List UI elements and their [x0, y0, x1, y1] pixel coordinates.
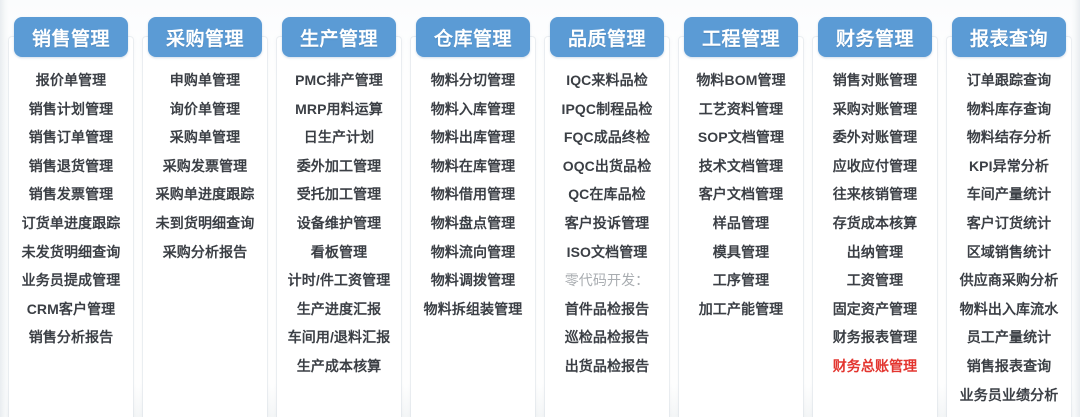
module-item[interactable]: 物料入库管理 — [431, 95, 516, 124]
module-item[interactable]: SOP文档管理 — [698, 123, 784, 152]
module-item[interactable]: IPQC制程品检 — [561, 95, 652, 124]
module-item[interactable]: 物料借用管理 — [431, 180, 516, 209]
module-item[interactable]: 销售发票管理 — [29, 180, 114, 209]
module-item[interactable]: 车间用/退料汇报 — [288, 323, 391, 352]
module-item[interactable]: 生产进度汇报 — [297, 295, 382, 324]
module-item[interactable]: 车间产量统计 — [967, 180, 1052, 209]
module-item-list: 销售对账管理采购对账管理委外对账管理应收应付管理往来核销管理存货成本核算出纳管理… — [811, 66, 939, 381]
module-item[interactable]: 工资管理 — [847, 266, 903, 295]
module-item[interactable]: 出货品检报告 — [565, 352, 650, 381]
module-item[interactable]: 业务员业绩分析 — [960, 381, 1059, 410]
module-item[interactable]: 计时/件工资管理 — [288, 266, 391, 295]
module-item[interactable]: OQC出货品检 — [563, 152, 652, 181]
module-column: 采购管理申购单管理询价单管理采购单管理采购发票管理采购单进度跟踪未到货明细查询采… — [141, 0, 269, 417]
module-item[interactable]: 销售计划管理 — [29, 95, 114, 124]
module-column-header[interactable]: 仓库管理 — [416, 17, 530, 57]
module-column-header[interactable]: 生产管理 — [282, 17, 396, 57]
module-item[interactable]: 模具管理 — [713, 238, 769, 267]
module-item[interactable]: 物料BOM管理 — [696, 66, 785, 95]
module-item-list: PMC排产管理MRP用料运算日生产计划委外加工管理受托加工管理设备维护管理看板管… — [275, 66, 403, 381]
module-item[interactable]: 申购单管理 — [170, 66, 241, 95]
module-item[interactable]: 委外对账管理 — [833, 123, 918, 152]
module-item[interactable]: 物料分切管理 — [431, 66, 516, 95]
module-item[interactable]: CRM客户管理 — [27, 295, 116, 324]
module-item[interactable]: 受托加工管理 — [297, 180, 382, 209]
module-item[interactable]: 技术文档管理 — [699, 152, 784, 181]
module-item[interactable]: 看板管理 — [311, 238, 367, 267]
module-item[interactable]: 物料盘点管理 — [431, 209, 516, 238]
module-item[interactable]: 样品管理 — [713, 209, 769, 238]
module-item[interactable]: FQC成品终检 — [564, 123, 650, 152]
module-item[interactable]: 采购单进度跟踪 — [156, 180, 255, 209]
module-item[interactable]: 采购分析报告 — [163, 238, 248, 267]
module-item[interactable]: 工序管理 — [713, 266, 769, 295]
module-item[interactable]: 物料在库管理 — [431, 152, 516, 181]
module-item[interactable]: 物料流向管理 — [431, 238, 516, 267]
module-item-note: 零代码开发： — [565, 266, 650, 295]
module-column-header[interactable]: 报表查询 — [952, 17, 1066, 57]
module-item[interactable]: 固定资产管理 — [833, 295, 918, 324]
module-item[interactable]: 区域销售统计 — [967, 238, 1052, 267]
module-item[interactable]: 销售分析报告 — [29, 323, 114, 352]
module-item[interactable]: 销售对账管理 — [833, 66, 918, 95]
module-item[interactable]: IQC来料品检 — [566, 66, 648, 95]
module-item[interactable]: 采购发票管理 — [163, 152, 248, 181]
module-item[interactable]: 采购对账管理 — [833, 95, 918, 124]
module-item[interactable]: 员工产量统计 — [967, 323, 1052, 352]
module-column-header[interactable]: 品质管理 — [550, 17, 664, 57]
module-item[interactable]: 财务报表管理 — [833, 323, 918, 352]
module-item[interactable]: 往来核销管理 — [833, 180, 918, 209]
module-column-header[interactable]: 销售管理 — [14, 17, 128, 57]
module-item-list: IQC来料品检IPQC制程品检FQC成品终检OQC出货品检QC在库品检客户投诉管… — [543, 66, 671, 381]
module-item[interactable]: 物料拆组装管理 — [424, 295, 523, 324]
module-item[interactable]: 出纳管理 — [847, 238, 903, 267]
module-item[interactable]: 销售退货管理 — [29, 152, 114, 181]
module-item[interactable]: 采购单管理 — [170, 123, 241, 152]
module-column: 财务管理销售对账管理采购对账管理委外对账管理应收应付管理往来核销管理存货成本核算… — [811, 0, 939, 417]
module-item[interactable]: 报价单管理 — [36, 66, 107, 95]
module-item-list: 物料BOM管理工艺资料管理SOP文档管理技术文档管理客户文档管理样品管理模具管理… — [677, 66, 805, 323]
module-column: 报表查询订单跟踪查询物料库存查询物料结存分析KPI异常分析车间产量统计客户订货统… — [945, 0, 1073, 417]
module-item-list: 申购单管理询价单管理采购单管理采购发票管理采购单进度跟踪未到货明细查询采购分析报… — [141, 66, 269, 266]
module-item[interactable]: 询价单管理 — [170, 95, 241, 124]
module-item[interactable]: 客户订货统计 — [967, 209, 1052, 238]
module-item[interactable]: 设备维护管理 — [297, 209, 382, 238]
module-item[interactable]: 物料库存查询 — [967, 95, 1052, 124]
module-item[interactable]: 订货单进度跟踪 — [22, 209, 121, 238]
module-item[interactable]: 应收应付管理 — [833, 152, 918, 181]
module-item[interactable]: 委外加工管理 — [297, 152, 382, 181]
module-item[interactable]: 未到货明细查询 — [156, 209, 255, 238]
module-item[interactable]: 未发货明细查询 — [22, 238, 121, 267]
module-item[interactable]: 客户投诉管理 — [565, 209, 650, 238]
module-column: 仓库管理物料分切管理物料入库管理物料出库管理物料在库管理物料借用管理物料盘点管理… — [409, 0, 537, 417]
module-item-list: 报价单管理销售计划管理销售订单管理销售退货管理销售发票管理订货单进度跟踪未发货明… — [7, 66, 135, 352]
module-column: 工程管理物料BOM管理工艺资料管理SOP文档管理技术文档管理客户文档管理样品管理… — [677, 0, 805, 417]
module-column-header[interactable]: 财务管理 — [818, 17, 932, 57]
module-column: 销售管理报价单管理销售计划管理销售订单管理销售退货管理销售发票管理订货单进度跟踪… — [7, 0, 135, 417]
module-item[interactable]: 供应商采购分析 — [960, 266, 1059, 295]
module-column-header[interactable]: 工程管理 — [684, 17, 798, 57]
module-item[interactable]: 物料结存分析 — [967, 123, 1052, 152]
module-item[interactable]: MRP用料运算 — [295, 95, 383, 124]
module-item[interactable]: 生产成本核算 — [297, 352, 382, 381]
module-item[interactable]: 巡检品检报告 — [565, 323, 650, 352]
module-map-board: 销售管理报价单管理销售计划管理销售订单管理销售退货管理销售发票管理订货单进度跟踪… — [0, 0, 1080, 417]
module-item[interactable]: KPI异常分析 — [969, 152, 1049, 181]
module-item[interactable]: 工艺资料管理 — [699, 95, 784, 124]
module-item[interactable]: 物料出入库流水 — [960, 295, 1059, 324]
module-item-list: 物料分切管理物料入库管理物料出库管理物料在库管理物料借用管理物料盘点管理物料流向… — [409, 66, 537, 323]
module-item[interactable]: PMC排产管理 — [295, 66, 383, 95]
module-item[interactable]: ISO文档管理 — [567, 238, 648, 267]
module-column: 生产管理PMC排产管理MRP用料运算日生产计划委外加工管理受托加工管理设备维护管… — [275, 0, 403, 417]
module-item[interactable]: 客户文档管理 — [699, 180, 784, 209]
module-item[interactable]: 销售订单管理 — [29, 123, 114, 152]
module-item[interactable]: 财务总账管理 — [833, 352, 918, 381]
module-item[interactable]: 首件品检报告 — [565, 295, 650, 324]
module-item[interactable]: 业务员提成管理 — [22, 266, 121, 295]
module-column: 品质管理IQC来料品检IPQC制程品检FQC成品终检OQC出货品检QC在库品检客… — [543, 0, 671, 417]
module-item[interactable]: 物料出库管理 — [431, 123, 516, 152]
module-item[interactable]: 加工产能管理 — [699, 295, 784, 324]
module-item[interactable]: 订单跟踪查询 — [967, 66, 1052, 95]
module-item-list: 订单跟踪查询物料库存查询物料结存分析KPI异常分析车间产量统计客户订货统计区域销… — [945, 66, 1073, 409]
module-item[interactable]: 销售报表查询 — [967, 352, 1052, 381]
module-item[interactable]: 物料调拨管理 — [431, 266, 516, 295]
module-item[interactable]: 日生产计划 — [304, 123, 375, 152]
module-column-header[interactable]: 采购管理 — [148, 17, 262, 57]
module-item[interactable]: QC在库品检 — [568, 180, 646, 209]
module-item[interactable]: 存货成本核算 — [833, 209, 918, 238]
